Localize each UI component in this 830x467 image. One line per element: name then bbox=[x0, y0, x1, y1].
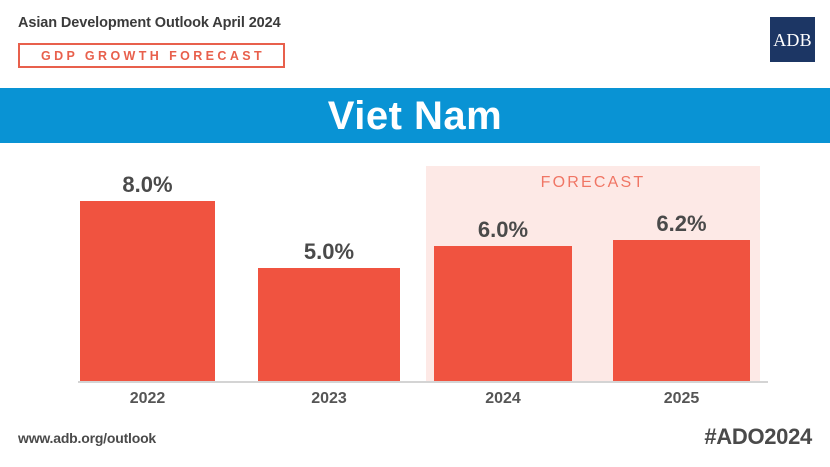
website-url[interactable]: www.adb.org/outlook bbox=[18, 430, 156, 446]
country-name: Viet Nam bbox=[328, 96, 502, 136]
chart-baseline-axis bbox=[78, 381, 768, 383]
campaign-hashtag: #ADO2024 bbox=[704, 424, 812, 450]
x-axis-label-2024: 2024 bbox=[434, 391, 572, 407]
forecast-region-label: FORECAST bbox=[426, 174, 760, 192]
x-axis-label-2022: 2022 bbox=[80, 391, 215, 407]
x-axis-label-2023: 2023 bbox=[258, 391, 400, 407]
page-title: Asian Development Outlook April 2024 bbox=[18, 15, 281, 31]
bar-value-label-2024: 6.0% bbox=[434, 219, 572, 241]
bar-2025 bbox=[613, 240, 750, 381]
country-banner: Viet Nam bbox=[0, 88, 830, 143]
infographic-card: Asian Development Outlook April 2024 GDP… bbox=[0, 0, 830, 467]
bar-2022 bbox=[80, 201, 215, 381]
adb-logo-text: ADB bbox=[773, 31, 812, 49]
bar-2023 bbox=[258, 268, 400, 381]
bar-value-label-2022: 8.0% bbox=[80, 174, 215, 196]
gdp-growth-forecast-badge-label: GDP GROWTH FORECAST bbox=[38, 49, 265, 63]
gdp-growth-forecast-badge: GDP GROWTH FORECAST bbox=[18, 43, 285, 68]
bar-value-label-2023: 5.0% bbox=[258, 241, 400, 263]
bar-2024 bbox=[434, 246, 572, 381]
x-axis-label-2025: 2025 bbox=[613, 391, 750, 407]
gdp-growth-bar-chart: FORECAST 8.0% 5.0% 6.0% 6.2% 2022 2023 2… bbox=[0, 143, 830, 423]
bar-value-label-2025: 6.2% bbox=[613, 213, 750, 235]
adb-logo: ADB bbox=[770, 17, 815, 62]
